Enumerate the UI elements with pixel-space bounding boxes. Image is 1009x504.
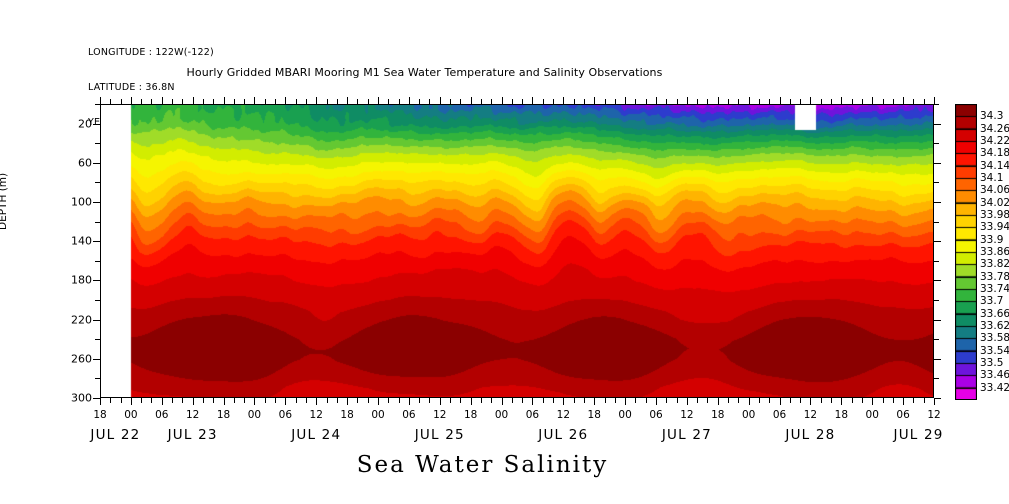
tick-mark: [378, 398, 379, 405]
tick-mark: [687, 97, 688, 104]
y-axis: 2060100140180220260300: [40, 104, 92, 398]
tick-mark: [151, 99, 152, 104]
tick-mark: [831, 99, 832, 104]
tick-mark: [327, 398, 328, 403]
tick-mark: [697, 99, 698, 104]
tick-mark: [646, 99, 647, 104]
tick-mark: [234, 398, 235, 403]
x-axis-hour-label: 12: [804, 409, 817, 421]
tick-mark: [872, 398, 873, 405]
tick-mark: [934, 124, 941, 125]
tick-mark: [131, 97, 132, 104]
tick-mark: [625, 398, 626, 405]
tick-mark: [821, 398, 822, 403]
colorbar-tick-label: 34.02: [980, 197, 1009, 209]
tick-mark: [553, 99, 554, 104]
x-axis-hour-label: 18: [588, 409, 601, 421]
tick-mark: [749, 97, 750, 104]
tick-mark: [440, 398, 441, 405]
tick-mark: [224, 398, 225, 405]
tick-mark: [666, 398, 667, 403]
tick-mark: [151, 398, 152, 403]
colorbar-tick-label: 34.14: [980, 160, 1009, 172]
tick-mark: [265, 398, 266, 403]
tick-mark: [121, 398, 122, 403]
colorbar-tick-label: 34.22: [980, 135, 1009, 147]
x-axis-hour-label: 18: [217, 409, 230, 421]
tick-mark: [296, 398, 297, 403]
x-axis-hour-label: 00: [248, 409, 261, 421]
tick-mark: [532, 398, 533, 405]
colorbar-tick-label: 34.1: [980, 172, 1003, 184]
tick-mark: [502, 97, 503, 104]
tick-mark: [934, 320, 941, 321]
tick-mark: [687, 398, 688, 405]
tick-mark: [347, 97, 348, 104]
tick-mark: [203, 398, 204, 403]
x-axis-hour-label: 12: [680, 409, 693, 421]
tick-mark: [285, 398, 286, 405]
tick-mark: [872, 97, 873, 104]
tick-mark: [780, 398, 781, 405]
tick-mark: [615, 398, 616, 403]
x-axis-hour-label: 12: [433, 409, 446, 421]
tick-mark: [95, 261, 100, 262]
tick-mark: [306, 99, 307, 104]
colorbar-tick-label: 33.74: [980, 283, 1009, 295]
tick-mark: [728, 99, 729, 104]
x-axis-hour-label: 06: [773, 409, 786, 421]
x-axis-day-label: JUL 22: [90, 427, 140, 443]
tick-mark: [254, 398, 255, 405]
tick-mark: [121, 99, 122, 104]
tick-mark: [584, 99, 585, 104]
tick-mark: [254, 97, 255, 104]
tick-mark: [893, 99, 894, 104]
tick-mark: [213, 398, 214, 403]
tick-mark: [481, 99, 482, 104]
tick-mark: [141, 398, 142, 403]
tick-mark: [193, 97, 194, 104]
tick-mark: [100, 97, 101, 104]
tick-mark: [625, 97, 626, 104]
colorbar-tick-label: 33.58: [980, 332, 1009, 344]
colorbar-tick-label: 33.9: [980, 234, 1003, 246]
x-axis-day-label: JUL 24: [291, 427, 341, 443]
tick-mark: [93, 280, 100, 281]
colorbar-tick-label: 33.62: [980, 320, 1009, 332]
x-axis-day-label: JUL 27: [662, 427, 712, 443]
tick-mark: [93, 398, 100, 399]
tick-mark: [769, 99, 770, 104]
y-axis-label: 20: [78, 117, 92, 130]
tick-mark: [95, 300, 100, 301]
colorbar-tick-label: 34.06: [980, 184, 1009, 196]
tick-mark: [790, 398, 791, 403]
tick-mark: [934, 378, 939, 379]
tick-mark: [512, 99, 513, 104]
tick-mark: [924, 398, 925, 403]
tick-mark: [584, 398, 585, 403]
tick-mark: [409, 398, 410, 405]
tick-mark: [718, 398, 719, 405]
tick-mark: [429, 99, 430, 104]
colorbar-tick-label: 33.5: [980, 357, 1003, 369]
tick-mark: [594, 398, 595, 405]
tick-mark: [460, 398, 461, 403]
tick-mark: [93, 163, 100, 164]
tick-mark: [419, 99, 420, 104]
tick-mark: [93, 202, 100, 203]
x-axis-hour-label: 00: [866, 409, 879, 421]
tick-mark: [543, 398, 544, 403]
tick-mark: [95, 339, 100, 340]
colorbar-tick-label: 33.86: [980, 246, 1009, 258]
tick-mark: [800, 398, 801, 403]
tick-mark: [831, 398, 832, 403]
x-axis-hour-label: 00: [618, 409, 631, 421]
tick-mark: [388, 99, 389, 104]
tick-mark: [93, 359, 100, 360]
tick-mark: [337, 99, 338, 104]
tick-mark: [224, 97, 225, 104]
tick-mark: [800, 99, 801, 104]
y-axis-label: 60: [78, 156, 92, 169]
tick-mark: [491, 398, 492, 403]
x-axis-hour-label: 12: [186, 409, 199, 421]
tick-mark: [502, 398, 503, 405]
y-axis-label: 220: [71, 313, 92, 326]
tick-mark: [203, 99, 204, 104]
salinity-heatmap: [100, 104, 934, 398]
y-axis-label: 300: [71, 392, 92, 405]
colorbar-tick-label: 33.7: [980, 295, 1003, 307]
tick-mark: [162, 97, 163, 104]
y-axis-label: 260: [71, 352, 92, 365]
colorbar: [955, 104, 977, 400]
tick-mark: [450, 99, 451, 104]
tick-mark: [934, 280, 941, 281]
tick-mark: [656, 97, 657, 104]
x-axis-hour-label: 06: [155, 409, 168, 421]
tick-mark: [574, 398, 575, 403]
x-axis-hour-label: 12: [310, 409, 323, 421]
y-axis-title: DEPTH (m): [0, 173, 9, 230]
tick-mark: [934, 182, 939, 183]
colorbar-tick-label: 33.94: [980, 221, 1009, 233]
tick-mark: [244, 398, 245, 403]
tick-mark: [913, 99, 914, 104]
tick-mark: [327, 99, 328, 104]
tick-mark: [780, 97, 781, 104]
tick-mark: [553, 398, 554, 403]
tick-mark: [275, 398, 276, 403]
tick-mark: [368, 398, 369, 403]
tick-mark: [419, 398, 420, 403]
tick-mark: [450, 398, 451, 403]
tick-mark: [182, 398, 183, 403]
tick-mark: [934, 163, 941, 164]
x-axis-hour-label: 18: [340, 409, 353, 421]
tick-mark: [728, 398, 729, 403]
x-axis-day-label: JUL 29: [894, 427, 944, 443]
tick-mark: [347, 398, 348, 405]
x-axis-hour-label: 00: [371, 409, 384, 421]
tick-mark: [635, 99, 636, 104]
tick-mark: [563, 97, 564, 104]
longitude-text: LONGITUDE : 122W(-122): [88, 47, 214, 59]
tick-mark: [368, 99, 369, 104]
tick-mark: [841, 398, 842, 405]
tick-mark: [532, 97, 533, 104]
x-axis-hour-label: 18: [93, 409, 106, 421]
tick-mark: [934, 300, 939, 301]
tick-mark: [399, 398, 400, 403]
tick-mark: [399, 99, 400, 104]
tick-mark: [357, 398, 358, 403]
tick-mark: [934, 104, 939, 105]
tick-mark: [95, 182, 100, 183]
tick-mark: [95, 104, 100, 105]
tick-mark: [934, 261, 939, 262]
tick-mark: [234, 99, 235, 104]
tick-mark: [440, 97, 441, 104]
tick-mark: [460, 99, 461, 104]
tick-mark: [563, 398, 564, 405]
colorbar-tick-label: 33.78: [980, 271, 1009, 283]
x-axis-hour-label: 00: [495, 409, 508, 421]
tick-mark: [182, 99, 183, 104]
tick-mark: [883, 99, 884, 104]
tick-mark: [522, 398, 523, 403]
tick-mark: [852, 398, 853, 403]
tick-mark: [934, 339, 939, 340]
tick-mark: [378, 97, 379, 104]
tick-mark: [357, 99, 358, 104]
tick-mark: [429, 398, 430, 403]
tick-mark: [934, 202, 941, 203]
x-axis-day-label: JUL 23: [168, 427, 218, 443]
tick-mark: [93, 241, 100, 242]
colorbar-tick-label: 33.46: [980, 369, 1009, 381]
tick-mark: [95, 222, 100, 223]
tick-mark: [718, 97, 719, 104]
tick-mark: [862, 398, 863, 403]
x-axis-hour-label: 06: [402, 409, 415, 421]
tick-mark: [296, 99, 297, 104]
x-axis-hour-label: 12: [927, 409, 940, 421]
tick-mark: [934, 398, 935, 405]
tick-mark: [656, 398, 657, 405]
tick-mark: [522, 99, 523, 104]
tick-mark: [110, 99, 111, 104]
x-axis-hour-label: 18: [464, 409, 477, 421]
tick-mark: [903, 398, 904, 405]
y-axis-label: 100: [71, 196, 92, 209]
tick-mark: [759, 398, 760, 403]
colorbar-tick-label: 33.54: [980, 345, 1009, 357]
x-axis-hour-label: 18: [835, 409, 848, 421]
y-axis-label: 140: [71, 235, 92, 248]
colorbar-tick-label: 34.18: [980, 147, 1009, 159]
tick-mark: [666, 99, 667, 104]
tick-mark: [852, 99, 853, 104]
tick-mark: [95, 143, 100, 144]
tick-mark: [409, 97, 410, 104]
x-axis-hour-label: 06: [649, 409, 662, 421]
tick-mark: [934, 143, 939, 144]
tick-mark: [697, 398, 698, 403]
tick-mark: [893, 398, 894, 403]
tick-mark: [594, 97, 595, 104]
tick-mark: [924, 99, 925, 104]
x-axis-hour-label: 00: [124, 409, 137, 421]
tick-mark: [337, 398, 338, 403]
x-axis-day-label: JUL 28: [785, 427, 835, 443]
tick-mark: [213, 99, 214, 104]
x-axis-hour-label: 00: [742, 409, 755, 421]
tick-mark: [100, 398, 101, 405]
tick-mark: [934, 359, 941, 360]
x-axis-hour-label: 06: [279, 409, 292, 421]
tick-mark: [646, 398, 647, 403]
tick-mark: [810, 97, 811, 104]
tick-mark: [810, 398, 811, 405]
tick-mark: [306, 398, 307, 403]
tick-mark: [265, 99, 266, 104]
tick-mark: [934, 97, 935, 104]
tick-mark: [316, 97, 317, 104]
x-axis-hour-label: 06: [896, 409, 909, 421]
tick-mark: [244, 99, 245, 104]
tick-mark: [615, 99, 616, 104]
tick-mark: [316, 398, 317, 405]
tick-mark: [131, 398, 132, 405]
x-axis-hour-label: 12: [557, 409, 570, 421]
tick-mark: [605, 398, 606, 403]
tick-mark: [95, 378, 100, 379]
tick-mark: [275, 99, 276, 104]
tick-mark: [471, 398, 472, 405]
tick-mark: [605, 99, 606, 104]
tick-mark: [934, 222, 939, 223]
tick-mark: [759, 99, 760, 104]
tick-mark: [749, 398, 750, 405]
tick-mark: [677, 398, 678, 403]
tick-mark: [93, 124, 100, 125]
tick-mark: [862, 99, 863, 104]
tick-mark: [707, 99, 708, 104]
tick-mark: [543, 99, 544, 104]
x-axis-day-label: JUL 25: [415, 427, 465, 443]
tick-mark: [512, 398, 513, 403]
tick-mark: [388, 398, 389, 403]
chart-caption: Sea Water Salinity: [0, 452, 1009, 478]
tick-mark: [574, 99, 575, 104]
tick-mark: [913, 398, 914, 403]
colorbar-tick-label: 34.26: [980, 123, 1009, 135]
tick-mark: [141, 99, 142, 104]
tick-mark: [934, 398, 941, 399]
tick-mark: [93, 320, 100, 321]
colorbar-tick-label: 33.98: [980, 209, 1009, 221]
tick-mark: [677, 99, 678, 104]
colorbar-tick-label: 33.82: [980, 258, 1009, 270]
tick-mark: [635, 398, 636, 403]
tick-mark: [769, 398, 770, 403]
chart-title: Hourly Gridded MBARI Mooring M1 Sea Wate…: [0, 66, 1009, 79]
tick-mark: [491, 99, 492, 104]
tick-mark: [110, 398, 111, 403]
tick-mark: [883, 398, 884, 403]
tick-mark: [821, 99, 822, 104]
tick-mark: [934, 241, 941, 242]
tick-mark: [790, 99, 791, 104]
x-axis-day-label: JUL 26: [538, 427, 588, 443]
colorbar-tick-label: 33.42: [980, 382, 1009, 394]
tick-mark: [471, 97, 472, 104]
y-axis-label: 180: [71, 274, 92, 287]
tick-mark: [193, 398, 194, 405]
tick-mark: [903, 97, 904, 104]
tick-mark: [738, 398, 739, 403]
latitude-text: LATITUDE : 36.8N: [88, 82, 214, 94]
colorbar-tick-label: 34.3: [980, 110, 1003, 122]
colorbar-tick-label: 33.66: [980, 308, 1009, 320]
tick-mark: [841, 97, 842, 104]
tick-mark: [162, 398, 163, 405]
tick-mark: [172, 398, 173, 403]
x-axis-hour-label: 06: [526, 409, 539, 421]
x-axis-hour-label: 18: [711, 409, 724, 421]
tick-mark: [481, 398, 482, 403]
tick-mark: [172, 99, 173, 104]
tick-mark: [738, 99, 739, 104]
tick-mark: [285, 97, 286, 104]
tick-mark: [707, 398, 708, 403]
